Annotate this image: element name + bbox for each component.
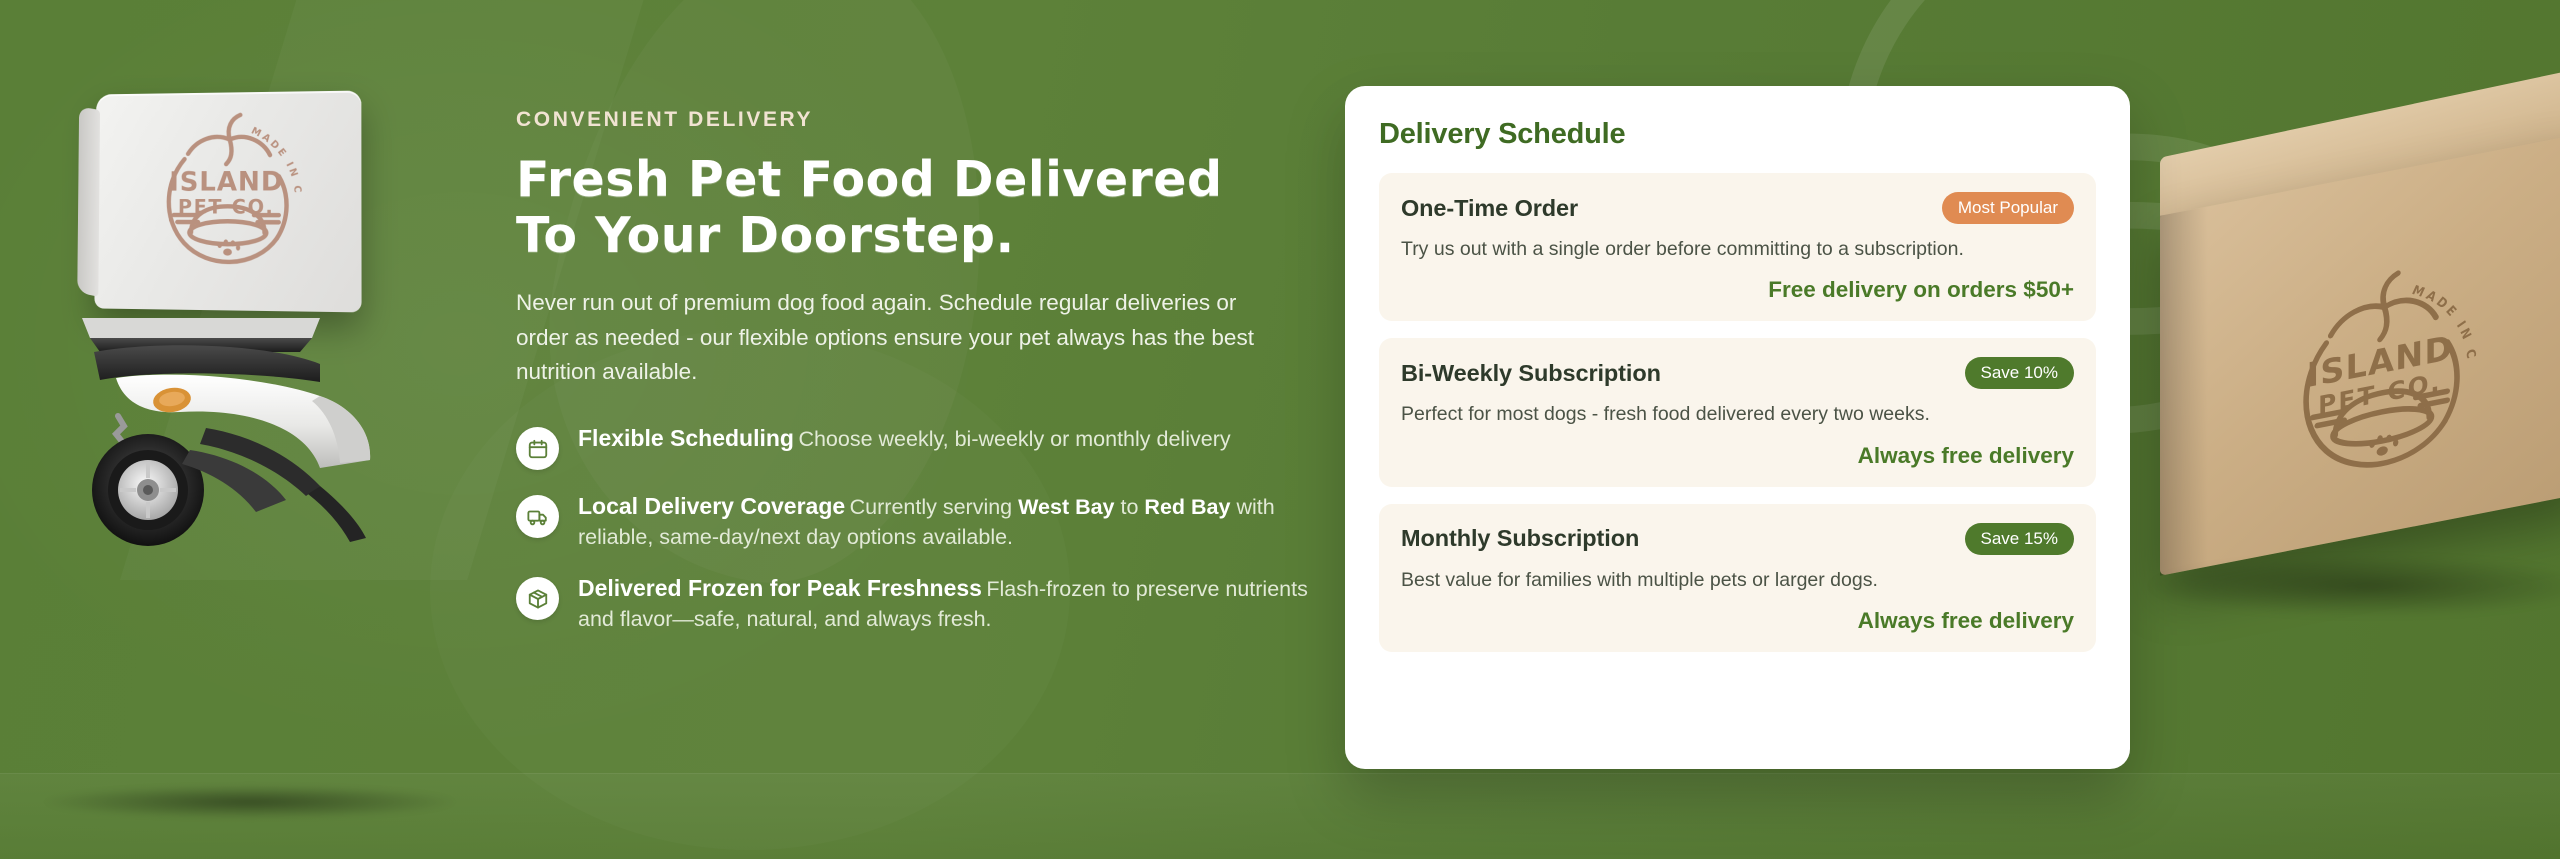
svg-text:PET CO.: PET CO. (178, 196, 275, 218)
page-title: Fresh Pet Food Delivered To Your Doorste… (516, 152, 1316, 264)
scooter-shadow (40, 785, 460, 819)
eyebrow-label: CONVENIENT DELIVERY (516, 108, 1316, 132)
plan-delivery-note: Always free delivery (1401, 608, 2074, 634)
feature-description: Choose weekly, bi-weekly or monthly deli… (798, 427, 1230, 451)
feature-title: Local Delivery Coverage (578, 493, 845, 519)
hero-copy-column: CONVENIENT DELIVERY Fresh Pet Food Deliv… (516, 108, 1316, 634)
island-pet-co-logo-icon: ISLAND PET CO. MADE IN CAYMAN (2268, 248, 2492, 516)
calendar-icon (516, 427, 559, 470)
plan-name: Monthly Subscription (1401, 525, 1639, 552)
svg-text:ISLAND: ISLAND (169, 167, 284, 198)
plan-delivery-note: Always free delivery (1401, 443, 2074, 469)
delivery-scooter-photo: ISLAND PET CO. MADE IN CAYMAN (0, 0, 500, 859)
plan-list: One-Time Order Most Popular Try us out w… (1379, 173, 2096, 652)
delivery-schedule-card: Delivery Schedule One-Time Order Most Po… (1345, 86, 2130, 769)
plan-name: One-Time Order (1401, 195, 1578, 222)
coverage-area-red-bay: Red Bay (1144, 495, 1230, 519)
plan-name: Bi-Weekly Subscription (1401, 360, 1661, 387)
plan-delivery-note: Free delivery on orders $50+ (1401, 277, 2074, 303)
coverage-text-pre: Currently serving (850, 495, 1018, 519)
coverage-text-mid: to (1115, 495, 1145, 519)
plan-row-monthly-subscription[interactable]: Monthly Subscription Save 15% Best value… (1379, 504, 2096, 652)
plan-description: Best value for families with multiple pe… (1401, 566, 2074, 594)
feature-title: Delivered Frozen for Peak Freshness (578, 575, 982, 601)
plan-header: Bi-Weekly Subscription Save 10% (1401, 357, 2074, 389)
scooter-body (20, 300, 450, 550)
status-badge: Most Popular (1942, 192, 2074, 224)
plan-header: One-Time Order Most Popular (1401, 192, 2074, 224)
status-badge: Save 10% (1965, 357, 2075, 389)
card-title: Delivery Schedule (1379, 118, 2096, 151)
headline-line-2: To Your Doorstep. (516, 208, 1316, 264)
feature-list: Flexible Scheduling Choose weekly, bi-we… (516, 424, 1316, 634)
plan-description: Try us out with a single order before co… (1401, 235, 2074, 263)
truck-icon (516, 495, 559, 538)
coverage-area-west-bay: West Bay (1018, 495, 1114, 519)
carton-shadow (2150, 556, 2560, 616)
status-badge: Save 15% (1965, 523, 2075, 555)
feature-item-local-delivery-coverage: Local Delivery Coverage Currently servin… (516, 492, 1316, 552)
feature-title: Flexible Scheduling (578, 425, 794, 451)
feature-item-delivered-frozen: Delivered Frozen for Peak Freshness Flas… (516, 574, 1316, 634)
scooter-delivery-box: ISLAND PET CO. MADE IN CAYMAN (94, 91, 361, 313)
plan-row-bi-weekly-subscription[interactable]: Bi-Weekly Subscription Save 10% Perfect … (1379, 338, 2096, 486)
feature-item-flexible-scheduling: Flexible Scheduling Choose weekly, bi-we… (516, 424, 1316, 470)
plan-row-one-time-order[interactable]: One-Time Order Most Popular Try us out w… (1379, 173, 2096, 321)
package-icon (516, 577, 559, 620)
plan-header: Monthly Subscription Save 15% (1401, 523, 2074, 555)
kraft-carton-photo: ISLAND PET CO. MADE IN CAYMAN (2140, 112, 2560, 582)
headline-line-1: Fresh Pet Food Delivered (516, 151, 1223, 208)
island-pet-co-logo-icon: ISLAND PET CO. MADE IN CAYMAN (139, 109, 314, 287)
hero-description: Never run out of premium dog food again.… (516, 286, 1276, 391)
plan-description: Perfect for most dogs - fresh food deliv… (1401, 400, 2074, 428)
